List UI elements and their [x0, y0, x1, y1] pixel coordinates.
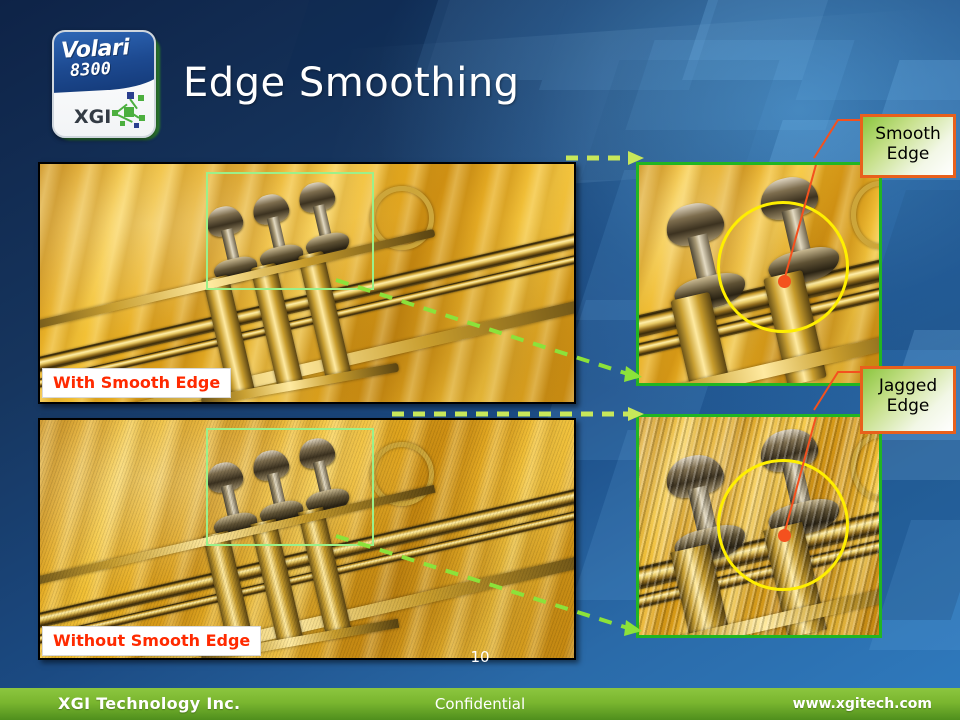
smooth-edge-zoom-photo [639, 165, 879, 383]
jagged-edge-photo [40, 420, 574, 658]
smooth-edge-callout: Smooth Edge [860, 114, 956, 178]
page-title: Edge Smoothing [183, 60, 520, 106]
network-graphic-icon [110, 90, 148, 130]
trumpet-valve-3 [296, 435, 348, 517]
logo-model-number: 8300 [70, 59, 112, 81]
jagged-edge-zoom-panel [636, 414, 882, 638]
smooth-edge-photo [40, 164, 574, 402]
footer-website[interactable]: www.xgitech.com [793, 696, 932, 712]
jagged-edge-callout-line1: Jagged [869, 376, 947, 396]
logo-card: Volari 8300 XGI [52, 30, 156, 138]
trumpet-finger-ring-zoom [851, 433, 879, 501]
jagged-edge-zoom-photo [639, 417, 879, 635]
trumpet-valve-3 [296, 179, 348, 261]
logo-brand-name: XGI [74, 106, 111, 128]
volari-xgi-logo: Volari 8300 XGI [52, 30, 162, 142]
trumpet-finger-ring-zoom [851, 181, 879, 249]
smooth-edge-zoom-panel [636, 162, 882, 386]
jagged-edge-callout: Jagged Edge [860, 366, 956, 434]
presentation-slide: Volari 8300 XGI Edge Smoothing [0, 0, 960, 720]
slide-footer: XGI Technology Inc. Confidential www.xgi… [0, 688, 960, 720]
smooth-edge-caption: With Smooth Edge [42, 368, 231, 398]
jagged-edge-photo-frame [38, 418, 576, 660]
page-number: 10 [0, 648, 960, 666]
smooth-edge-callout-line2: Edge [869, 144, 947, 164]
jagged-edge-callout-line2: Edge [869, 396, 947, 416]
smooth-edge-callout-line1: Smooth [869, 124, 947, 144]
